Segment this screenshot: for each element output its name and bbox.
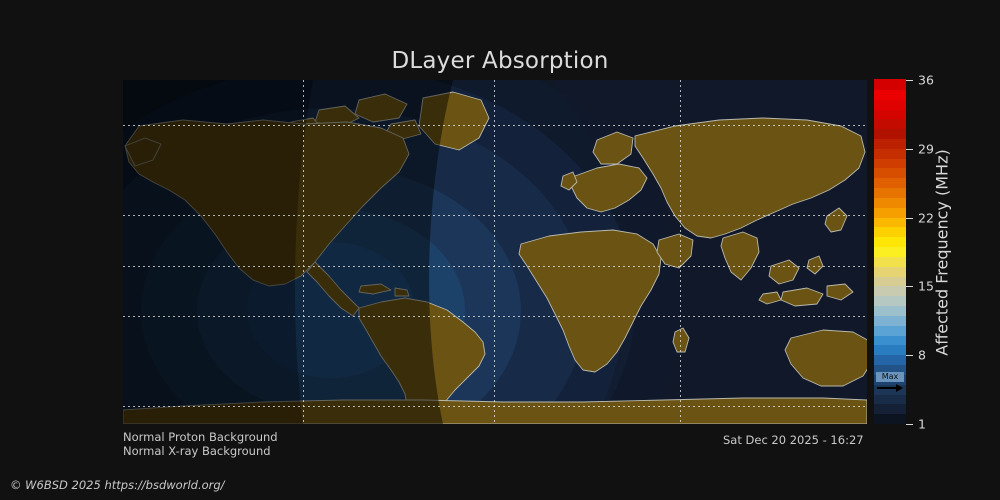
xray-status: Normal X-ray Background [123, 444, 271, 458]
colorbar-segment [874, 158, 906, 168]
colorbar-tick-label: 1 [918, 417, 926, 432]
colorbar-tick-mark [906, 218, 913, 219]
world-map[interactable] [123, 80, 867, 424]
colorbar-tick-mark [906, 286, 913, 287]
colorbar-segment [874, 325, 906, 335]
gridline-lat-0 [123, 266, 867, 267]
colorbar-tick-mark [906, 424, 913, 425]
colorbar-tick-mark [906, 80, 913, 81]
colorbar-segment [874, 305, 906, 315]
colorbar-segment [874, 335, 906, 345]
colorbar-segment [874, 247, 906, 257]
gridline-lat-30s [123, 316, 867, 317]
colorbar-axis-label-text: Affected Frequency (MHz) [933, 149, 952, 355]
colorbar-tick-mark [906, 355, 913, 356]
colorbar-segment [874, 286, 906, 296]
colorbar-segment [874, 355, 906, 365]
colorbar-segment [874, 197, 906, 207]
colorbar-segment [874, 256, 906, 266]
proton-status: Normal Proton Background [123, 430, 278, 444]
gridline-lon-90w [303, 80, 304, 424]
colorbar-tick-label: 8 [918, 348, 926, 363]
colorbar-segment [874, 345, 906, 355]
page-title: DLayer Absorption [0, 48, 1000, 74]
colorbar-segment [874, 79, 906, 89]
colorbar-segment [874, 296, 906, 306]
colorbar-segment [874, 266, 906, 276]
gridline-lon-0 [494, 80, 495, 424]
gridline-lon-90e [680, 80, 681, 424]
landmasses [123, 80, 867, 424]
colorbar-axis-label: Affected Frequency (MHz) [930, 80, 954, 424]
colorbar-max-arrow [876, 383, 904, 393]
colorbar-segment [874, 188, 906, 198]
colorbar-segment [874, 227, 906, 237]
colorbar-max-label: Max [876, 372, 904, 382]
colorbar-segment [874, 129, 906, 139]
colorbar-segment [874, 138, 906, 148]
colorbar-segment [874, 237, 906, 247]
timestamp: Sat Dec 20 2025 - 16:27 [723, 433, 864, 447]
colorbar-tick-mark [906, 149, 913, 150]
gridline-lat-60n [123, 125, 867, 126]
night-shadow-far-west [123, 80, 313, 424]
colorbar-segment [874, 89, 906, 99]
gridline-lat-60s [123, 406, 867, 407]
colorbar-segment [874, 394, 906, 404]
gridline-lat-30n [123, 215, 867, 216]
colorbar-segment [874, 207, 906, 217]
colorbar-segment [874, 414, 906, 424]
colorbar-segment [874, 148, 906, 158]
colorbar-segment [874, 276, 906, 286]
colorbar-segment [874, 315, 906, 325]
colorbar-segment [874, 119, 906, 129]
colorbar-segment [874, 178, 906, 188]
colorbar-segment [874, 109, 906, 119]
colorbar-segment [874, 168, 906, 178]
copyright: © W6BSD 2025 https://bsdworld.org/ [10, 478, 225, 492]
colorbar-segment [874, 404, 906, 414]
dlayer-absorption-page: DLayer Absorption [0, 0, 1000, 500]
colorbar-segment [874, 99, 906, 109]
colorbar-segment [874, 217, 906, 227]
